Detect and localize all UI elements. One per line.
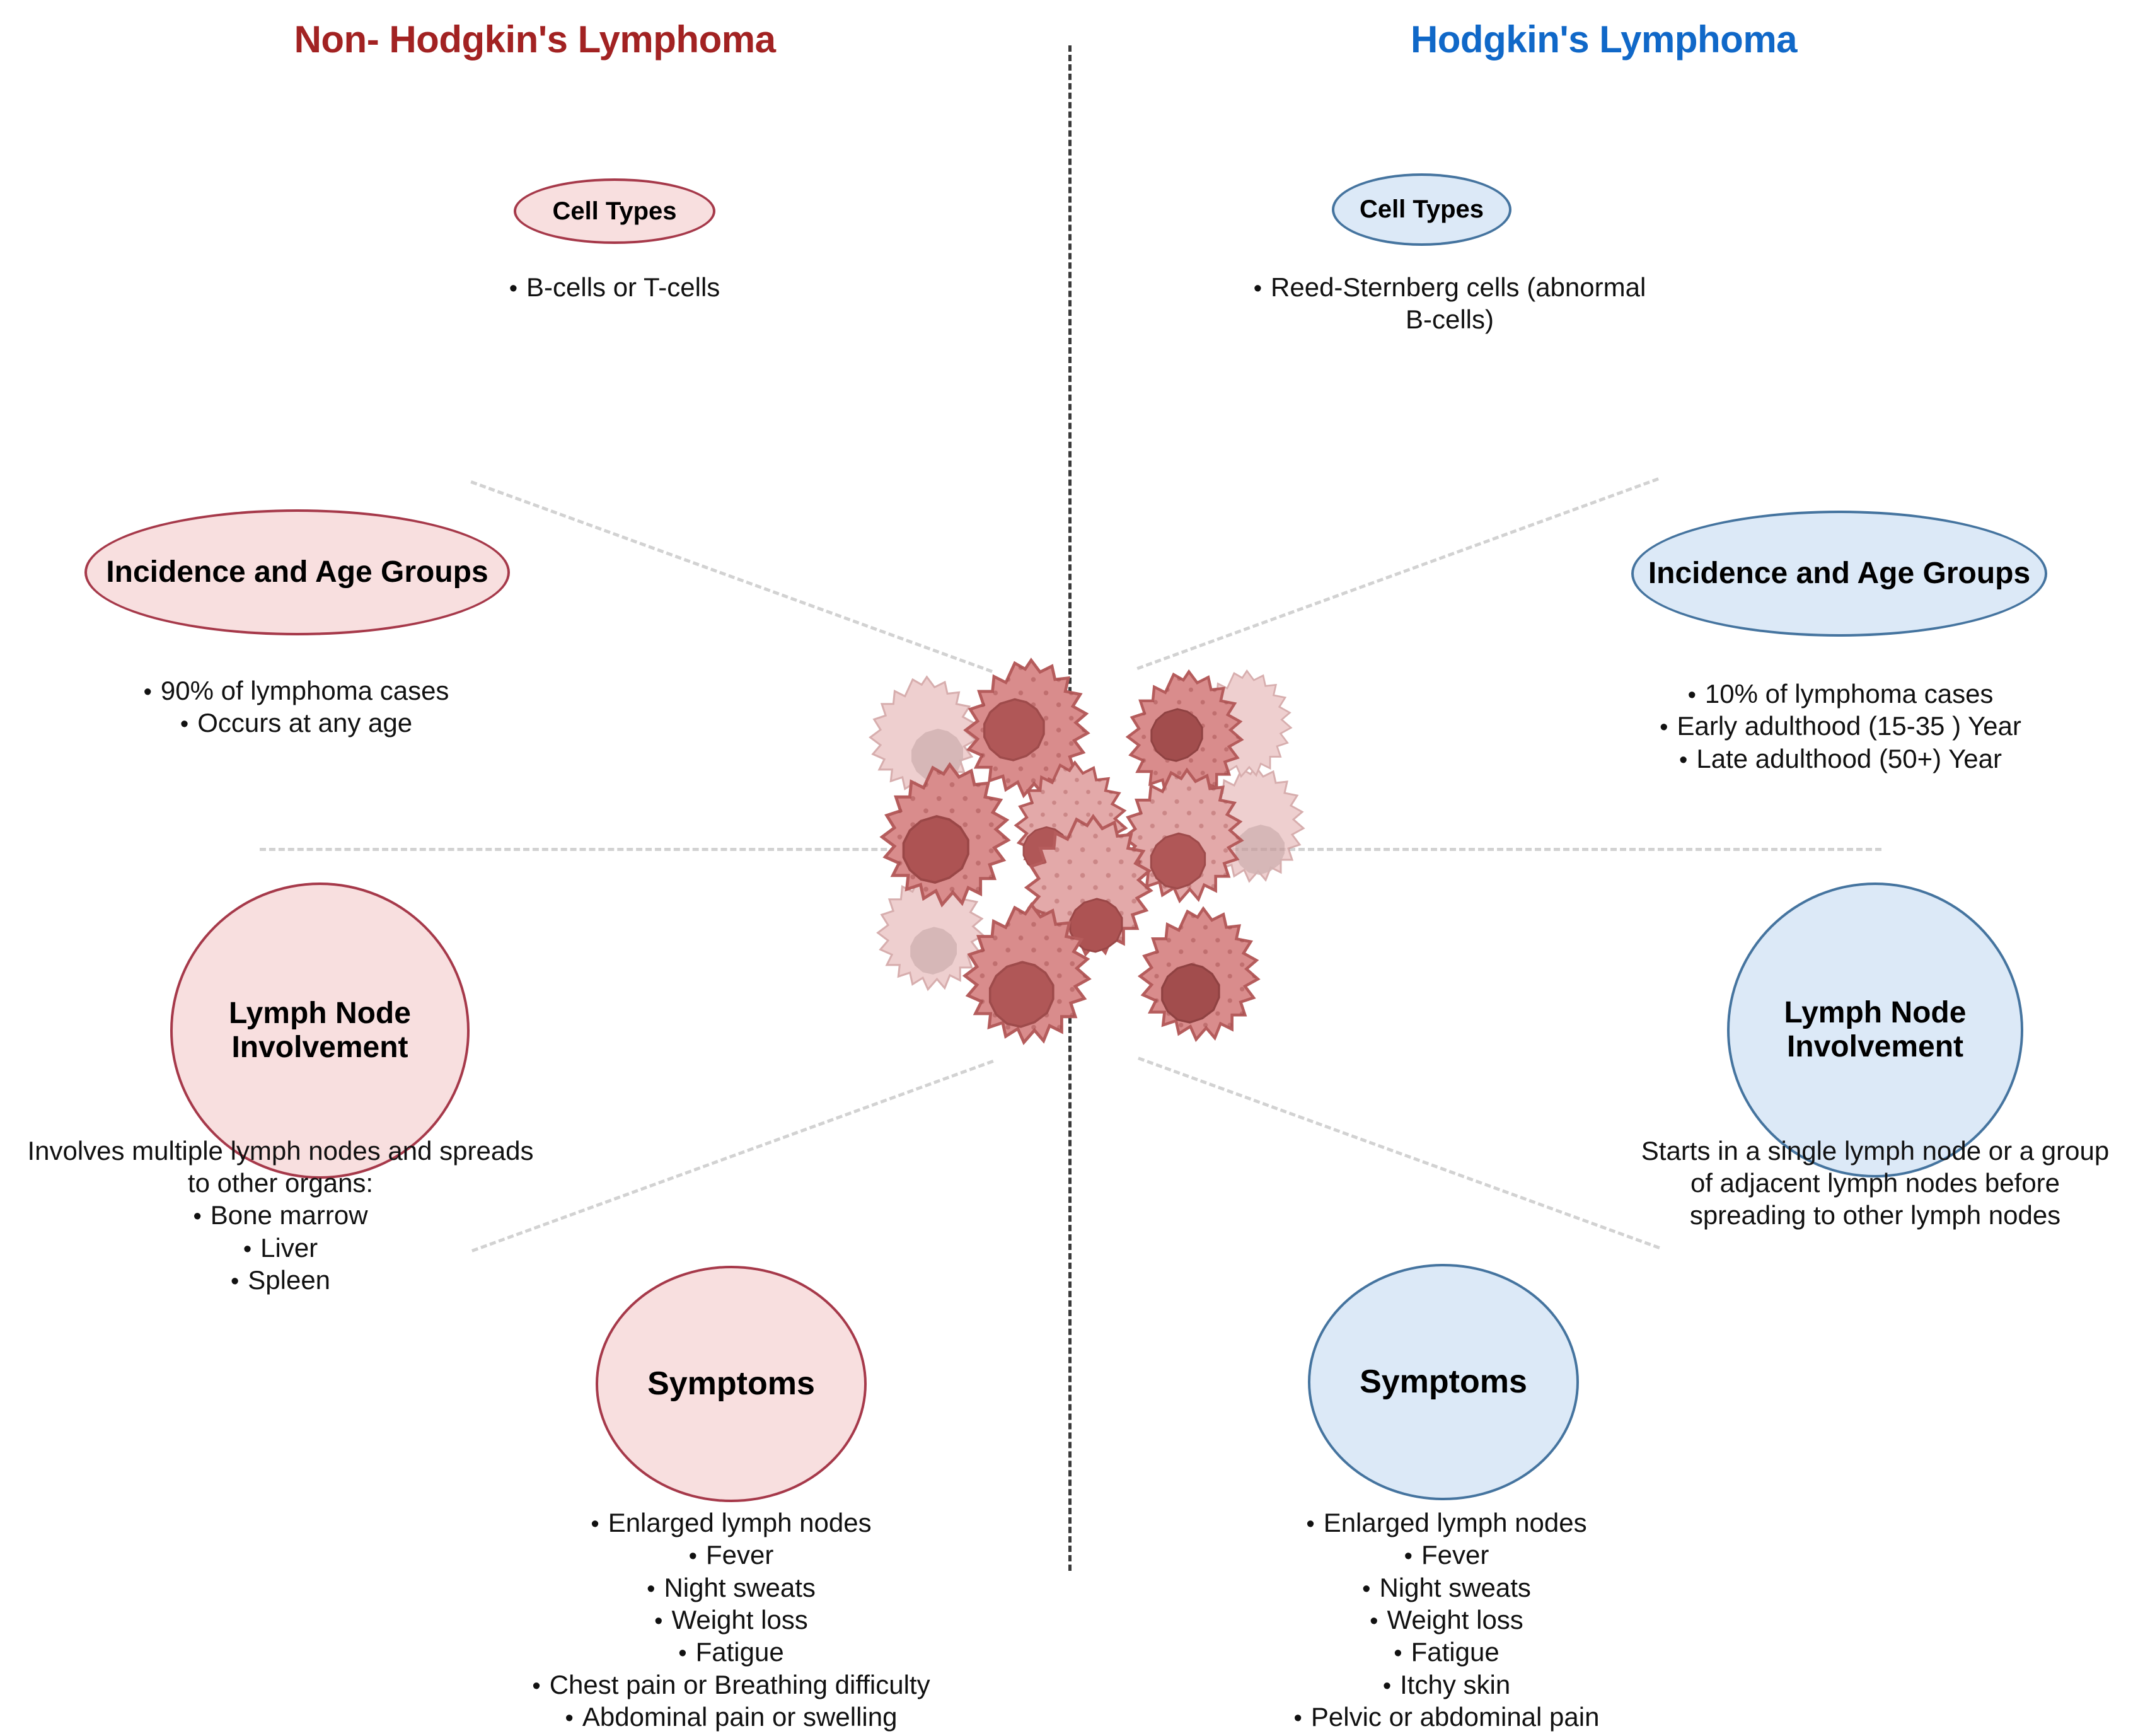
list-item: Spleen [0, 1264, 561, 1296]
left-cell-types-text: B-cells or T-cells [438, 271, 791, 303]
list-item: Late adulthood (50+) Year [1588, 743, 2093, 775]
list-item: Night sweats [479, 1571, 983, 1604]
list-item: Liver [0, 1232, 561, 1264]
list-item: Occurs at any age [38, 707, 555, 739]
node-right-cell-types[interactable]: Cell Types [1332, 173, 1511, 246]
left-incidence-text: 90% of lymphoma cases Occurs at any age [38, 674, 555, 739]
node-left-lymph-node-label: Lymph Node Involvement [173, 997, 467, 1065]
right-lymph-node-intro: Starts in a single lymph node or a group… [1601, 1135, 2138, 1232]
page-title-hodgkin: Hodgkin's Lymphoma [1070, 18, 2138, 61]
list-item: Night sweats [1198, 1571, 1696, 1604]
node-right-cell-types-label: Cell Types [1348, 195, 1495, 224]
right-lymph-node-text: Starts in a single lymph node or a group… [1601, 1135, 2138, 1232]
node-left-incidence[interactable]: Incidence and Age Groups [84, 509, 510, 635]
list-item: Fever [479, 1539, 983, 1571]
node-right-symptoms-label: Symptoms [1348, 1363, 1539, 1400]
list-item: Enlarged lymph nodes [1198, 1507, 1696, 1539]
list-item: 10% of lymphoma cases [1588, 678, 2093, 710]
list-item: Reed-Sternberg cells (abnormal B-cells) [1210, 271, 1689, 336]
list-item: Weight loss [1198, 1604, 1696, 1636]
node-left-cell-types-label: Cell Types [541, 197, 688, 226]
page-title-non-hodgkin: Non- Hodgkin's Lymphoma [0, 18, 1070, 61]
list-item: 90% of lymphoma cases [38, 674, 555, 707]
horizontal-divider-right [1223, 848, 1881, 851]
diagonal-connector-bottom-right [1138, 1056, 1660, 1249]
node-left-cell-types[interactable]: Cell Types [514, 178, 715, 244]
node-left-symptoms[interactable]: Symptoms [596, 1266, 867, 1502]
left-lymph-node-intro: Involves multiple lymph nodes and spread… [0, 1135, 561, 1199]
node-left-symptoms-label: Symptoms [636, 1365, 826, 1402]
right-symptoms-text: Enlarged lymph nodes Fever Night sweats … [1198, 1507, 1696, 1733]
list-item: Fatigue [1198, 1636, 1696, 1668]
list-item: Itchy skin [1198, 1669, 1696, 1701]
node-left-incidence-label: Incidence and Age Groups [95, 555, 499, 589]
node-right-lymph-node-label: Lymph Node Involvement [1730, 996, 2021, 1064]
list-item: Pelvic or abdominal pain [1198, 1701, 1696, 1733]
node-right-incidence-label: Incidence and Age Groups [1637, 557, 2042, 591]
lymphoma-cell-cluster-icon [826, 643, 1317, 1072]
diagram-canvas: Non- Hodgkin's Lymphoma Hodgkin's Lympho… [0, 0, 2138, 1736]
left-symptoms-text: Enlarged lymph nodes Fever Night sweats … [479, 1507, 983, 1733]
node-right-lymph-node[interactable]: Lymph Node Involvement [1727, 882, 2023, 1178]
node-right-symptoms[interactable]: Symptoms [1308, 1264, 1579, 1500]
list-item: Weight loss [479, 1604, 983, 1636]
horizontal-divider-left [260, 848, 915, 851]
list-item: Enlarged lymph nodes [479, 1507, 983, 1539]
left-lymph-node-text: Involves multiple lymph nodes and spread… [0, 1135, 561, 1297]
list-item: Abdominal pain or swelling [479, 1701, 983, 1733]
diagonal-connector-top-right [1136, 477, 1659, 670]
list-item: Bone marrow [0, 1199, 561, 1231]
list-item: B-cells or T-cells [438, 271, 791, 303]
right-cell-types-text: Reed-Sternberg cells (abnormal B-cells) [1210, 271, 1689, 336]
list-item: Chest pain or Breathing difficulty [479, 1669, 983, 1701]
right-incidence-text: 10% of lymphoma cases Early adulthood (1… [1588, 678, 2093, 775]
list-item: Early adulthood (15-35 ) Year [1588, 710, 2093, 742]
list-item: Fatigue [479, 1636, 983, 1668]
list-item: Fever [1198, 1539, 1696, 1571]
node-right-incidence[interactable]: Incidence and Age Groups [1631, 511, 2047, 637]
